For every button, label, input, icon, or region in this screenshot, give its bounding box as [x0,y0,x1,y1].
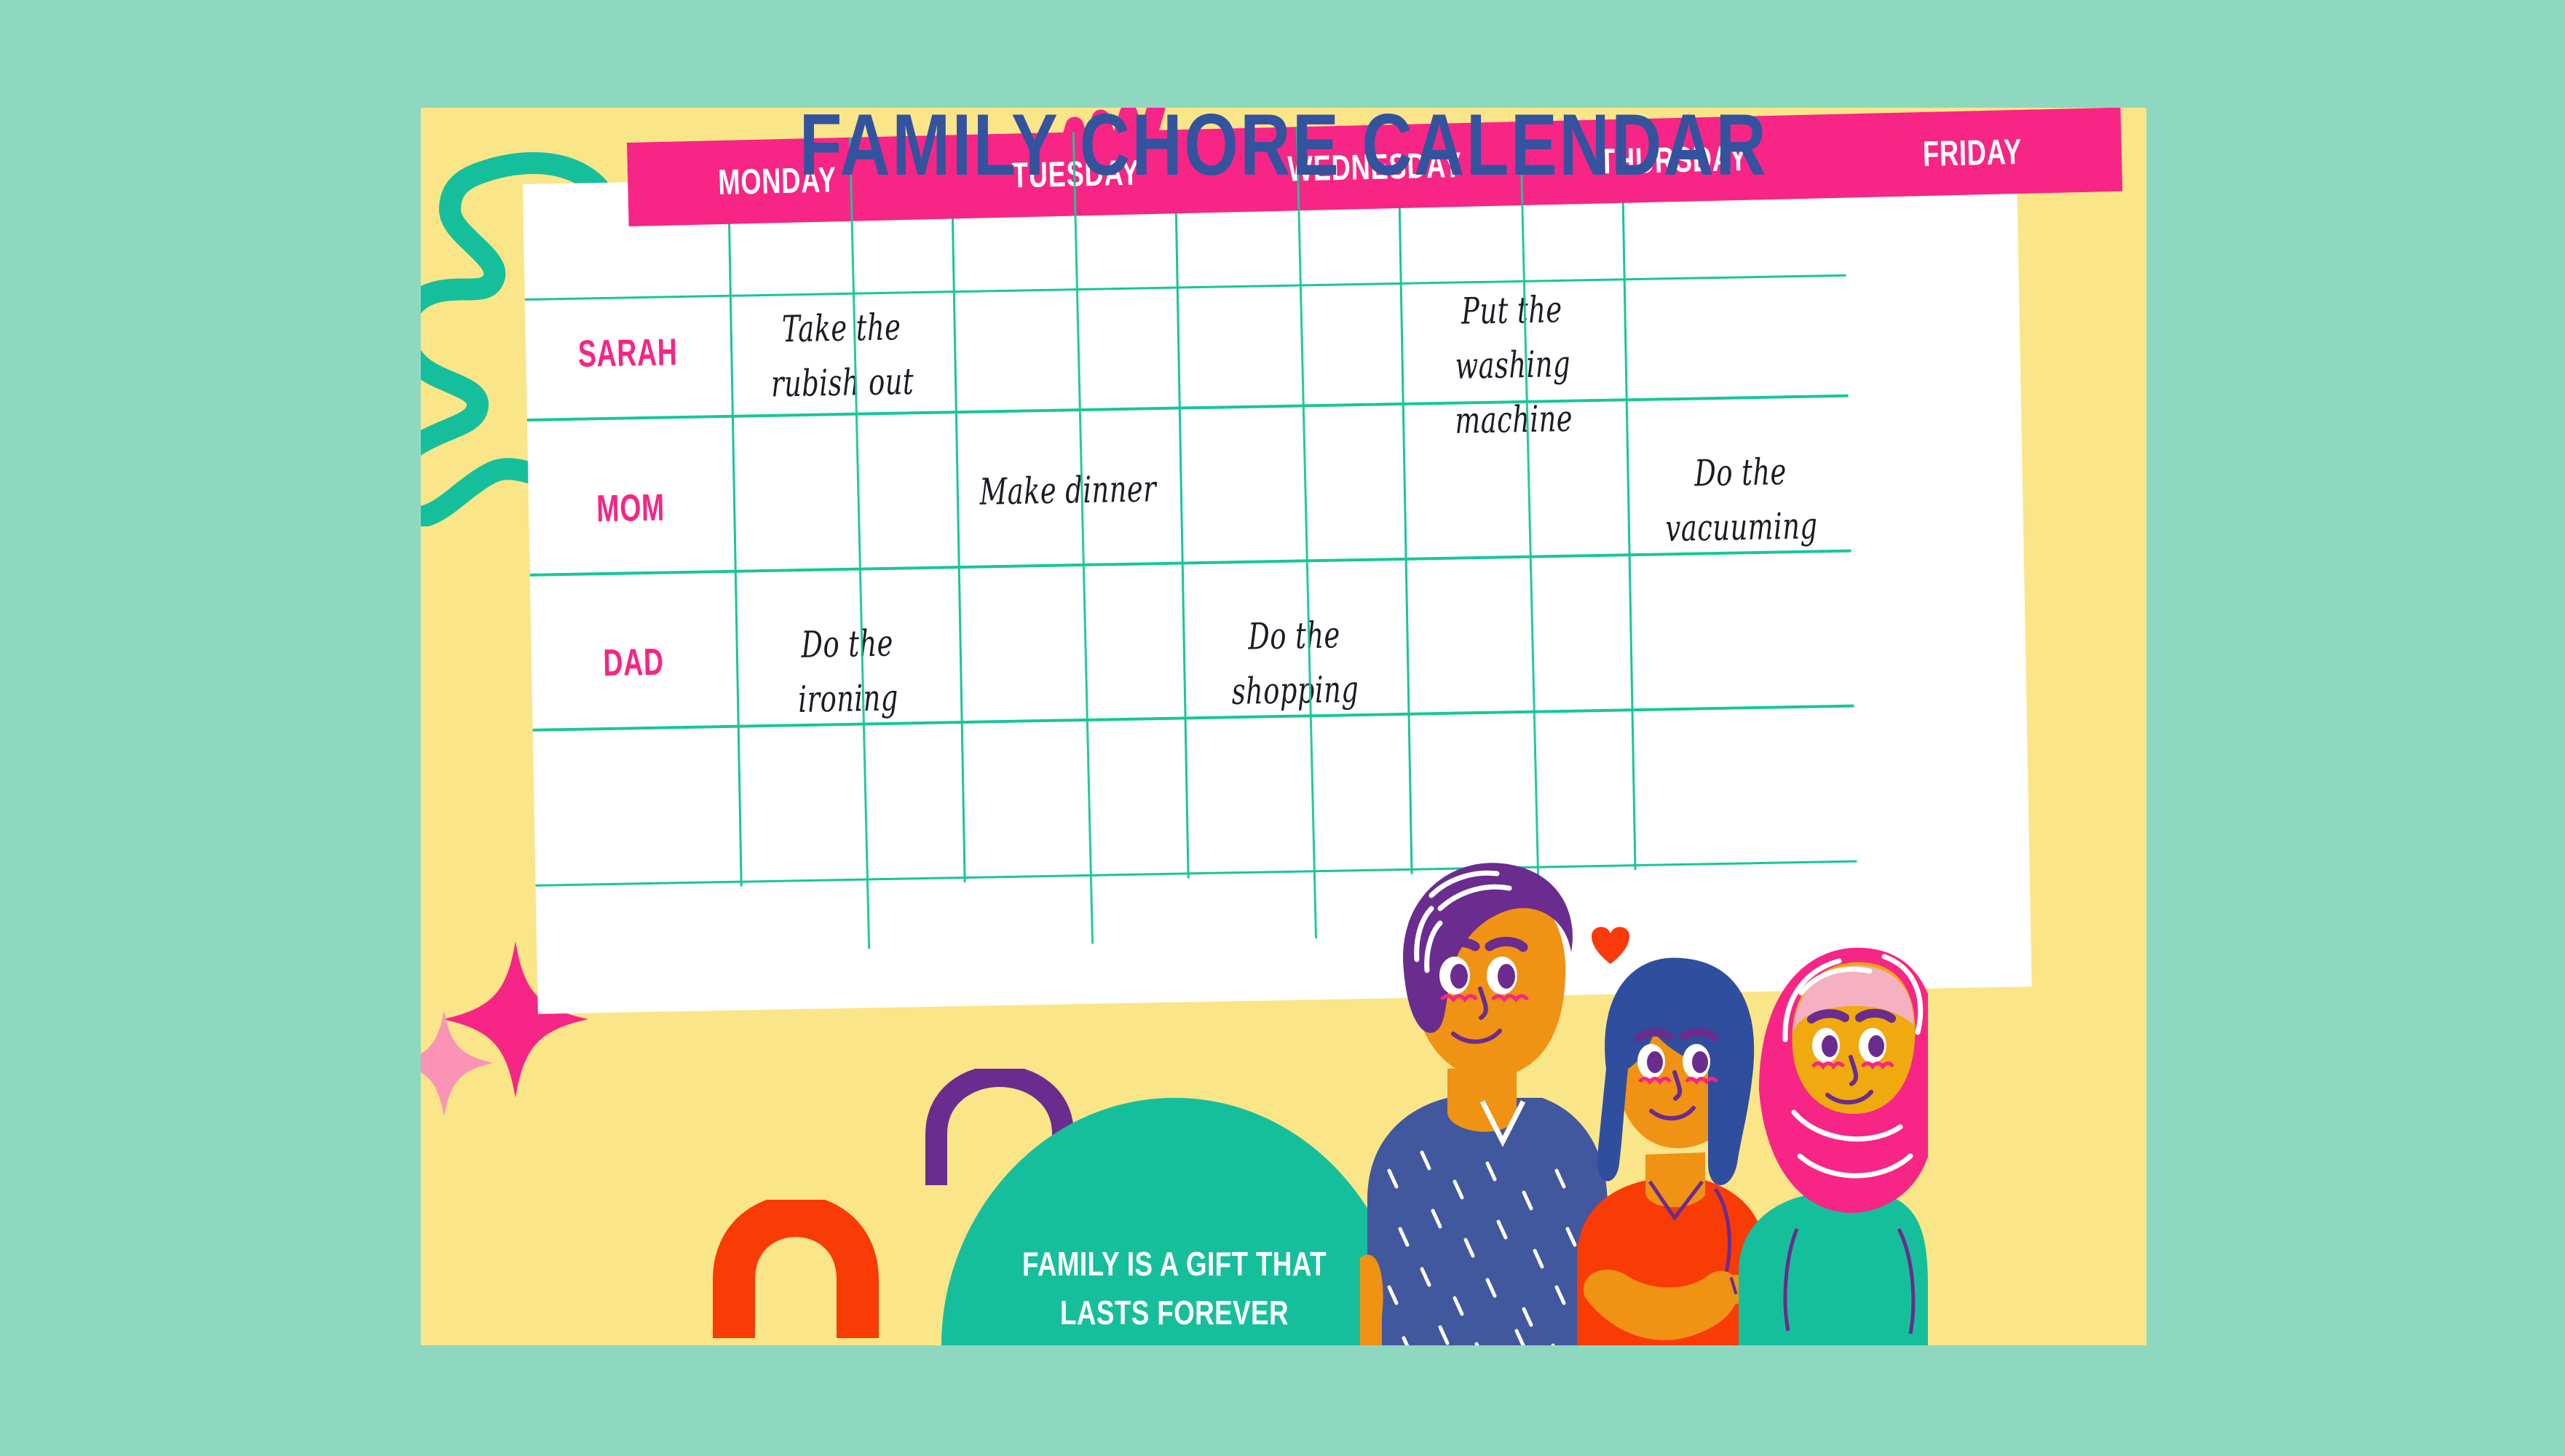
chore-cell-mom-wednesday[interactable] [1192,463,1390,467]
grid-hline-top [525,274,1846,301]
chore-cell-sarah-thursday[interactable]: Put the washing machine [1412,282,1613,449]
poster-card: FAMILY IS A GIFT THAT LASTS FOREVER SARA… [421,108,2146,1345]
grid-vline-4 [1397,132,1413,874]
grid-hline-3 [533,705,1854,732]
grid-vline-2 [950,140,966,882]
chore-cell-dad-monday[interactable]: Do the ironing [748,615,948,728]
father-figure [1360,863,1608,1345]
grid-hline-1 [527,395,1849,422]
chore-cell-sarah-tuesday[interactable] [965,306,1163,310]
red-arch-icon [708,1200,883,1338]
chore-cell-sarah-wednesday[interactable] [1189,302,1387,306]
row-label-mom: MOM [552,485,710,531]
chore-cell-mom-monday[interactable] [745,471,943,475]
chore-cell-mom-tuesday[interactable]: Make dinner [968,462,1168,520]
purple-arch-icon [916,1069,1083,1185]
chore-cell-sarah-friday[interactable] [1636,294,1834,298]
light-pink-four-point-star-icon [421,1010,494,1116]
quote-text: FAMILY IS A GIFT THAT LASTS FOREVER [1020,1240,1329,1337]
row-label-dad: DAD [555,639,713,686]
chore-cell-sarah-monday[interactable]: Take the rubish out [742,300,942,413]
chore-cell-dad-friday[interactable] [1642,610,1840,614]
chore-cell-mom-thursday[interactable] [1415,459,1613,463]
row-label-sarah: SARAH [549,330,707,376]
chore-cell-dad-wednesday[interactable]: Do the shopping [1195,607,1395,720]
grid-vline-5 [1621,127,1637,870]
chore-cell-mom-friday[interactable]: Do the vacuuming [1636,444,1846,557]
page-title: FAMILY CHORE CALENDAR [593,108,1974,195]
family-of-three-illustration [1360,850,1928,1345]
grid-vline-1 [727,144,743,887]
mother-figure [1739,948,1928,1345]
pink-burst-marks-left-icon [421,184,450,323]
quote-line-2: LASTS FOREVER [1020,1289,1329,1337]
chore-cell-dad-thursday[interactable] [1418,614,1616,618]
quote-line-1: FAMILY IS A GIFT THAT [1020,1240,1329,1289]
chore-cell-dad-tuesday[interactable] [971,622,1169,626]
grid-vline-3 [1174,136,1190,879]
